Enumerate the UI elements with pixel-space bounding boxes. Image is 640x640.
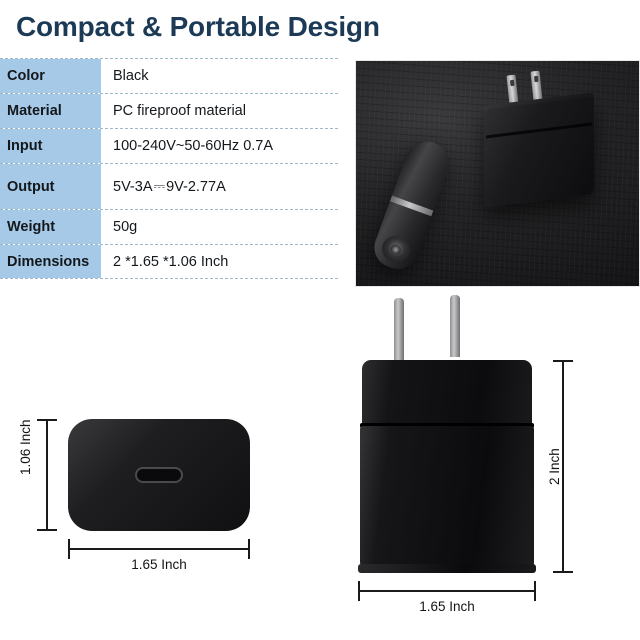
spec-value-output: 5V-3A⎓9V-2.77A [101, 164, 338, 209]
spec-value-dimensions: 2 *1.65 *1.06 Inch [101, 245, 338, 278]
diagram-bottom-view: 1.06 Inch 1.65 Inch [0, 395, 300, 595]
charger-bottom-face [68, 419, 250, 531]
dimension-line-vertical [46, 419, 48, 531]
spec-value-weight: 50g [101, 210, 338, 244]
product-spec-page: Compact & Portable Design Color Black Ma… [0, 0, 640, 640]
dc-current-icon: ⎓ [153, 179, 167, 195]
spec-value-input: 100-240V~50-60Hz 0.7A [101, 129, 338, 163]
table-row: Color Black [0, 58, 338, 93]
usb-c-port-icon [135, 467, 183, 483]
spec-key-output: Output [0, 164, 101, 209]
specification-table: Color Black Material PC fireproof materi… [0, 58, 338, 279]
product-photo [355, 60, 640, 287]
table-row: Input 100-240V~50-60Hz 0.7A [0, 128, 338, 163]
dimension-label-width: 1.65 Inch [358, 599, 536, 614]
spec-key-material: Material [0, 94, 101, 128]
output-voltage-second: 9V-2.77A [166, 179, 226, 195]
plug-prong-icon [394, 298, 404, 360]
table-row: Material PC fireproof material [0, 93, 338, 128]
output-voltage-first: 5V-3A [113, 179, 153, 195]
photo-charger-body [484, 96, 594, 208]
prong-hole [509, 80, 514, 86]
lipstick-ring [390, 196, 433, 217]
spec-key-dimensions: Dimensions [0, 245, 101, 278]
dimension-line-horizontal [68, 548, 250, 550]
dimension-label-height: 2 Inch [547, 448, 562, 485]
charger-base-foot [358, 564, 536, 573]
dimension-line-vertical [562, 360, 564, 573]
table-row: Dimensions 2 *1.65 *1.06 Inch [0, 244, 338, 279]
lipstick-cap [378, 232, 413, 266]
spec-key-weight: Weight [0, 210, 101, 244]
page-title: Compact & Portable Design [16, 11, 380, 43]
table-row: Output 5V-3A⎓9V-2.77A [0, 163, 338, 209]
table-row: Weight 50g [0, 209, 338, 244]
spec-value-color: Black [101, 59, 338, 93]
spec-value-material: PC fireproof material [101, 94, 338, 128]
charger-lower-body [360, 426, 534, 572]
diagram-front-view: 2 Inch 1.65 Inch [340, 290, 640, 640]
dimension-label-height: 1.06 Inch [18, 419, 33, 475]
dimension-label-width: 1.65 Inch [68, 557, 250, 572]
spec-key-color: Color [0, 59, 101, 93]
spec-key-input: Input [0, 129, 101, 163]
dimension-line-horizontal [358, 590, 536, 592]
plug-prong-icon [450, 295, 460, 357]
charger-upper-body [362, 360, 532, 428]
prong-hole [533, 76, 538, 82]
